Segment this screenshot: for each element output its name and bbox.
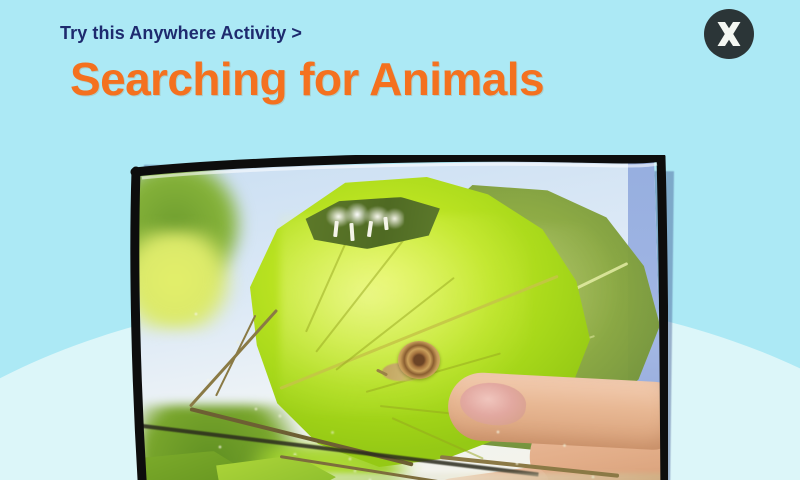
photo-frame-border	[130, 155, 668, 480]
eyebrow-label[interactable]: Try this Anywhere Activity >	[60, 23, 302, 44]
close-x-icon	[714, 19, 744, 49]
close-button[interactable]	[704, 9, 754, 59]
photo-card[interactable]	[130, 155, 668, 480]
activity-card: Try this Anywhere Activity > Searching f…	[0, 0, 800, 480]
page-title: Searching for Animals	[70, 52, 544, 106]
